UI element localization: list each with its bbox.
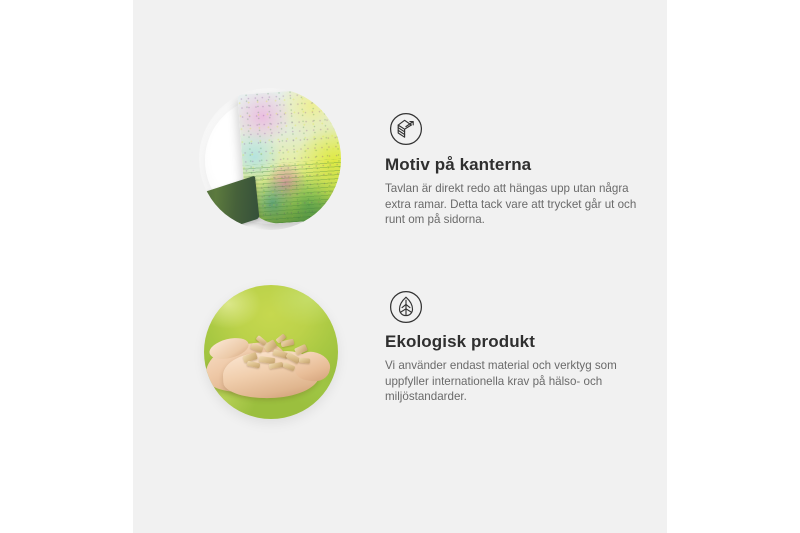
- hands-wood-chips-photo: [204, 285, 338, 419]
- product-feature-banner: Motiv på kanterna Tavlan är direkt redo …: [0, 0, 800, 533]
- canvas-wrap-edge-icon: [389, 112, 423, 146]
- leaf-icon: [389, 290, 423, 324]
- feature-title: Ekologisk produkt: [385, 332, 653, 352]
- feature-description: Vi använder endast material och verktyg …: [385, 358, 653, 405]
- feature-text-ekologisk-produkt: Ekologisk produkt Vi använder endast mat…: [385, 332, 653, 405]
- feature-title: Motiv på kanterna: [385, 155, 653, 175]
- feature-description: Tavlan är direkt redo att hängas upp uta…: [385, 181, 653, 228]
- content-panel: Motiv på kanterna Tavlan är direkt redo …: [133, 0, 667, 533]
- canvas-corner-photo: [199, 88, 341, 230]
- wood-chips-pile: [242, 336, 314, 376]
- feature-text-motiv-pa-kanterna: Motiv på kanterna Tavlan är direkt redo …: [385, 155, 653, 228]
